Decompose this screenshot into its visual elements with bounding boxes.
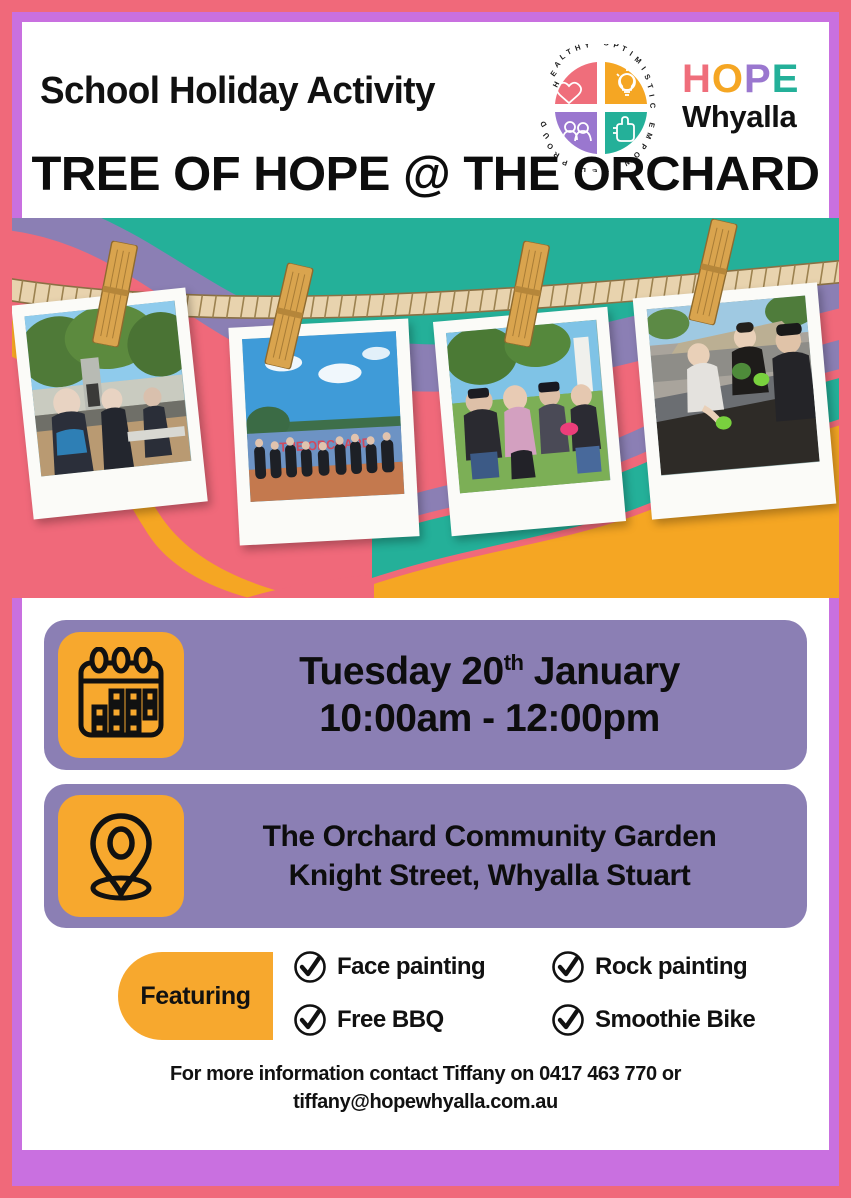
featuring-badge: Featuring <box>118 952 273 1040</box>
photo-4 <box>633 282 837 519</box>
location-card: The Orchard Community Garden Knight Stre… <box>44 784 807 928</box>
poster-main-title: TREE OF HOPE @ THE ORCHARD <box>30 147 821 202</box>
svg-text:E: E <box>548 69 558 78</box>
featuring-item-rock-painting: Rock painting <box>550 949 747 985</box>
svg-text:C: C <box>648 103 657 110</box>
svg-text:U: U <box>541 131 551 141</box>
svg-text:T: T <box>645 82 655 90</box>
map-pin-icon-tile <box>58 795 184 917</box>
svg-text:T: T <box>565 46 574 56</box>
featuring-item-free-bbq: Free BBQ <box>292 1002 444 1038</box>
featuring-item-smoothie-bike: Smoothie Bike <box>550 1002 755 1038</box>
date-line: Tuesday 20th January <box>184 648 795 695</box>
svg-text:Y: Y <box>584 44 591 50</box>
hope-letter-e: E <box>772 57 800 101</box>
details-panel: Tuesday 20th January 10:00am - 12:00pm T… <box>22 598 829 1150</box>
hope-letters: HOPE <box>682 58 840 100</box>
check-circle-icon <box>550 1002 586 1038</box>
photo-4-image <box>647 296 820 476</box>
photo-2: THE ORCHARD <box>228 318 419 545</box>
svg-text:I: I <box>628 49 635 58</box>
featuring-badge-label: Featuring <box>140 982 250 1011</box>
contact-line-2: tiffany@hopewhyalla.com.au <box>44 1088 807 1116</box>
svg-text:O: O <box>603 44 610 48</box>
svg-text:T: T <box>620 44 628 54</box>
location-address: Knight Street, Whyalla Stuart <box>184 856 795 895</box>
hope-letter-h: H <box>682 57 712 101</box>
time-line: 10:00am - 12:00pm <box>184 695 795 742</box>
location-venue: The Orchard Community Garden <box>184 817 795 856</box>
calendar-icon <box>73 647 169 743</box>
hope-letter-o: O <box>712 57 744 101</box>
svg-text:H: H <box>574 44 582 53</box>
hope-subtitle: Whyalla <box>682 100 840 134</box>
contact-line-1: For more information contact Tiffany on … <box>44 1060 807 1088</box>
featuring-item-face-painting: Face painting <box>292 949 485 985</box>
featuring-item-label: Rock painting <box>595 953 747 981</box>
featuring-items-grid: Face painting Rock painting Free BBQ <box>292 946 812 1050</box>
svg-text:D: D <box>538 119 549 129</box>
svg-text:M: M <box>644 131 655 140</box>
svg-text:E: E <box>647 122 657 129</box>
date-text-main: Tuesday 20 <box>299 650 504 693</box>
date-ordinal-suffix: th <box>504 650 524 675</box>
featuring-section: Featuring Face painting Rock painting <box>44 942 807 1052</box>
svg-text:I: I <box>639 65 647 72</box>
featuring-item-label: Face painting <box>337 953 485 981</box>
date-time-card: Tuesday 20th January 10:00am - 12:00pm <box>44 620 807 770</box>
check-circle-icon <box>292 1002 328 1038</box>
check-circle-icon <box>292 949 328 985</box>
hope-whyalla-wordmark: HOPE Whyalla <box>682 58 840 134</box>
map-pin-icon <box>75 808 167 904</box>
calendar-icon-tile <box>58 632 184 758</box>
featuring-item-label: Smoothie Bike <box>595 1006 755 1034</box>
svg-text:S: S <box>642 73 652 82</box>
poster-root: THE ORCHARD <box>0 0 851 1198</box>
svg-text:I: I <box>647 94 656 98</box>
svg-text:P: P <box>612 44 619 50</box>
hope-letter-p: P <box>744 57 772 101</box>
location-card-text: The Orchard Community Garden Knight Stre… <box>184 817 807 895</box>
check-circle-icon <box>550 949 586 985</box>
header-panel: School Holiday Activity <box>22 22 829 218</box>
header-eyebrow-text: School Holiday Activity <box>40 70 435 113</box>
photo-collage-band: THE ORCHARD <box>12 218 839 598</box>
contact-info: For more information contact Tiffany on … <box>44 1060 807 1116</box>
date-text-month: January <box>523 650 679 693</box>
svg-text:M: M <box>633 55 644 66</box>
featuring-item-label: Free BBQ <box>337 1006 444 1034</box>
date-card-text: Tuesday 20th January 10:00am - 12:00pm <box>184 648 807 742</box>
